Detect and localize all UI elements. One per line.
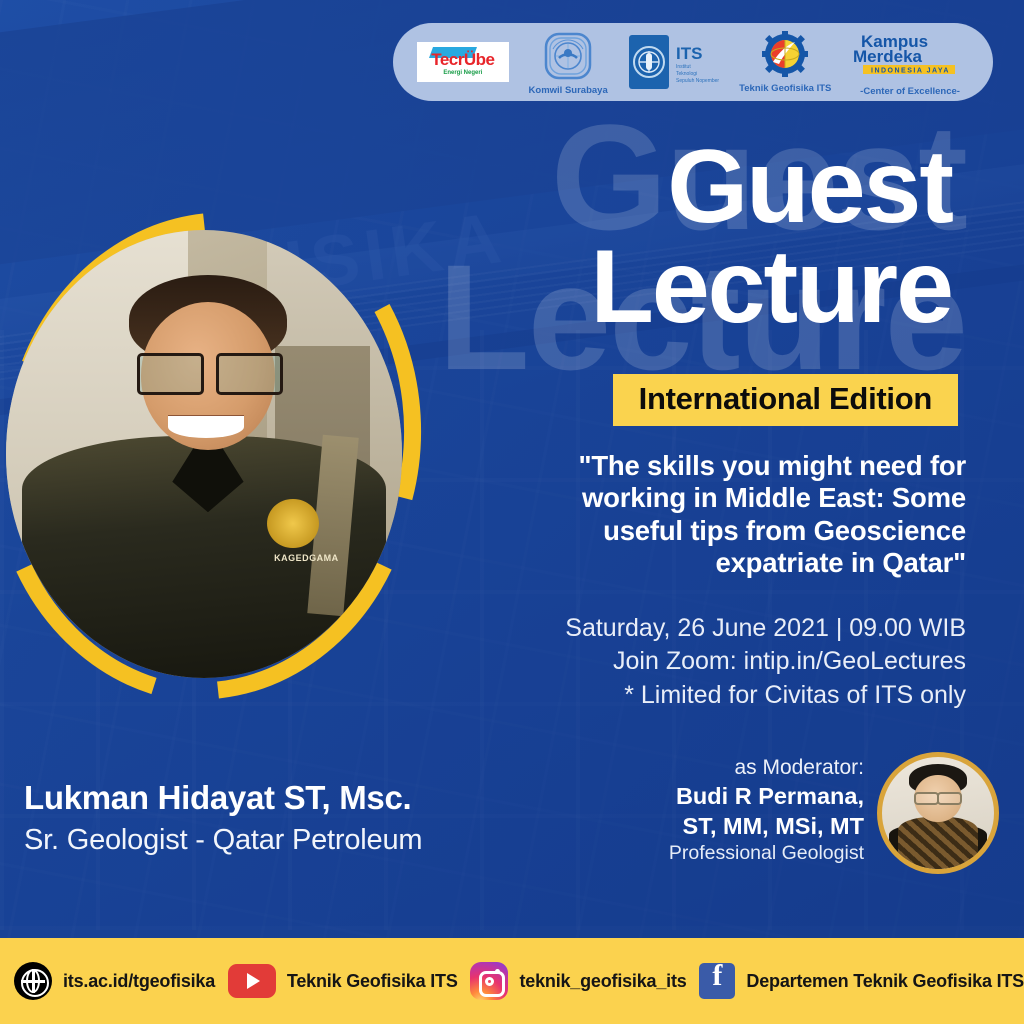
speaker-photo: KAGEDGAMA xyxy=(6,230,402,678)
svg-text:Sepuluh Nopember: Sepuluh Nopember xyxy=(676,78,719,84)
kampus-merdeka-logo: Kampus Merdeka INDONESIA JAYA -Center of… xyxy=(851,28,969,97)
avatar-batik-scarf xyxy=(898,817,979,869)
event-note: * Limited for Civitas of ITS only xyxy=(466,679,966,712)
instagram-icon xyxy=(470,962,508,1000)
geofisika-gear-globe-icon xyxy=(757,31,813,81)
tecrube-tagline: Energi Negeri xyxy=(443,70,482,76)
youtube-icon xyxy=(228,964,276,998)
speaker-name: Lukman Hidayat ST, Msc. xyxy=(24,778,422,818)
komwil-caption: Komwil Surabaya xyxy=(529,85,608,96)
footer-website-label: its.ac.id/tgeofisika xyxy=(63,971,215,992)
its-shield-icon: ITS Institut Teknologi Sepuluh Nopember xyxy=(627,33,719,91)
footer-instagram-label: teknik_geofisika_its xyxy=(519,971,686,992)
speaker-info: Lukman Hidayat ST, Msc. Sr. Geologist - … xyxy=(24,778,422,858)
moderator-name-line1: Budi R Permana, xyxy=(584,783,864,810)
photo-shirt-text: KAGEDGAMA xyxy=(274,553,339,563)
footer-bar: its.ac.id/tgeofisika Teknik Geofisika IT… xyxy=(0,938,1024,1024)
geofisika-caption: Teknik Geofisika ITS xyxy=(739,83,831,94)
moderator-label: as Moderator: xyxy=(584,756,864,780)
globe-meridian-ellipse xyxy=(26,969,40,993)
edition-badge: International Edition xyxy=(613,374,958,426)
poster-canvas: FISIKA TecrÜbe Energi Negeri Komwil Sura… xyxy=(0,0,1024,1024)
tecrube-mark: TecrÜbe Energi Negeri xyxy=(417,42,509,82)
speaker-role: Sr. Geologist - Qatar Petroleum xyxy=(24,822,422,858)
footer-facebook[interactable]: Departemen Teknik Geofisika ITS xyxy=(699,963,1024,999)
teknik-geofisika-its-logo: Teknik Geofisika ITS xyxy=(739,31,831,94)
event-datetime: Saturday, 26 June 2021 | 09.00 WIB xyxy=(466,612,966,645)
footer-facebook-label: Departemen Teknik Geofisika ITS xyxy=(746,971,1024,992)
svg-text:INDONESIA JAYA: INDONESIA JAYA xyxy=(871,67,950,74)
kampus-merdeka-wordmark-icon: Kampus Merdeka INDONESIA JAYA xyxy=(851,28,969,84)
moderator-name-line2: ST, MM, MSi, MT xyxy=(584,813,864,840)
svg-text:Teknologi: Teknologi xyxy=(676,71,697,77)
svg-text:Merdeka: Merdeka xyxy=(853,47,923,66)
footer-youtube-label: Teknik Geofisika ITS xyxy=(287,971,458,992)
komwil-seal-icon xyxy=(541,29,595,83)
event-zoom-link[interactable]: Join Zoom: intip.in/GeoLectures xyxy=(466,645,966,678)
title-line2: Lecture xyxy=(590,238,952,338)
lecture-title: "The skills you might need for working i… xyxy=(496,450,966,580)
speaker-portrait: KAGEDGAMA xyxy=(0,168,438,734)
page-title: Guest Lecture xyxy=(590,138,952,338)
komwil-surabaya-logo: Komwil Surabaya xyxy=(529,29,608,96)
avatar-glasses-icon xyxy=(914,792,961,801)
title-line1: Guest xyxy=(590,138,952,238)
tecrube-logo: TecrÜbe Energi Negeri xyxy=(417,42,509,82)
moderator-info: as Moderator: Budi R Permana, ST, MM, MS… xyxy=(584,756,864,865)
event-details: Saturday, 26 June 2021 | 09.00 WIB Join … xyxy=(466,612,966,712)
kampus-merdeka-caption: -Center of Excellence- xyxy=(860,86,960,97)
its-logo: ITS Institut Teknologi Sepuluh Nopember xyxy=(627,33,719,91)
globe-icon xyxy=(14,962,52,1000)
svg-text:ITS: ITS xyxy=(676,44,702,63)
globe-equator-line xyxy=(21,980,45,983)
moderator-role: Professional Geologist xyxy=(584,842,864,865)
instagram-lens xyxy=(485,977,494,986)
moderator-avatar xyxy=(877,752,999,874)
tecrube-wordmark: TecrÜbe xyxy=(431,51,494,68)
photo-shirt-emblem xyxy=(267,499,318,548)
footer-website[interactable]: its.ac.id/tgeofisika xyxy=(14,962,215,1000)
footer-youtube[interactable]: Teknik Geofisika ITS xyxy=(228,964,458,998)
logo-bar: TecrÜbe Energi Negeri Komwil Surabaya xyxy=(393,23,993,101)
svg-text:Institut: Institut xyxy=(676,64,691,70)
footer-instagram[interactable]: teknik_geofisika_its xyxy=(470,962,686,1000)
photo-glasses-icon xyxy=(137,353,284,389)
facebook-icon xyxy=(699,963,735,999)
